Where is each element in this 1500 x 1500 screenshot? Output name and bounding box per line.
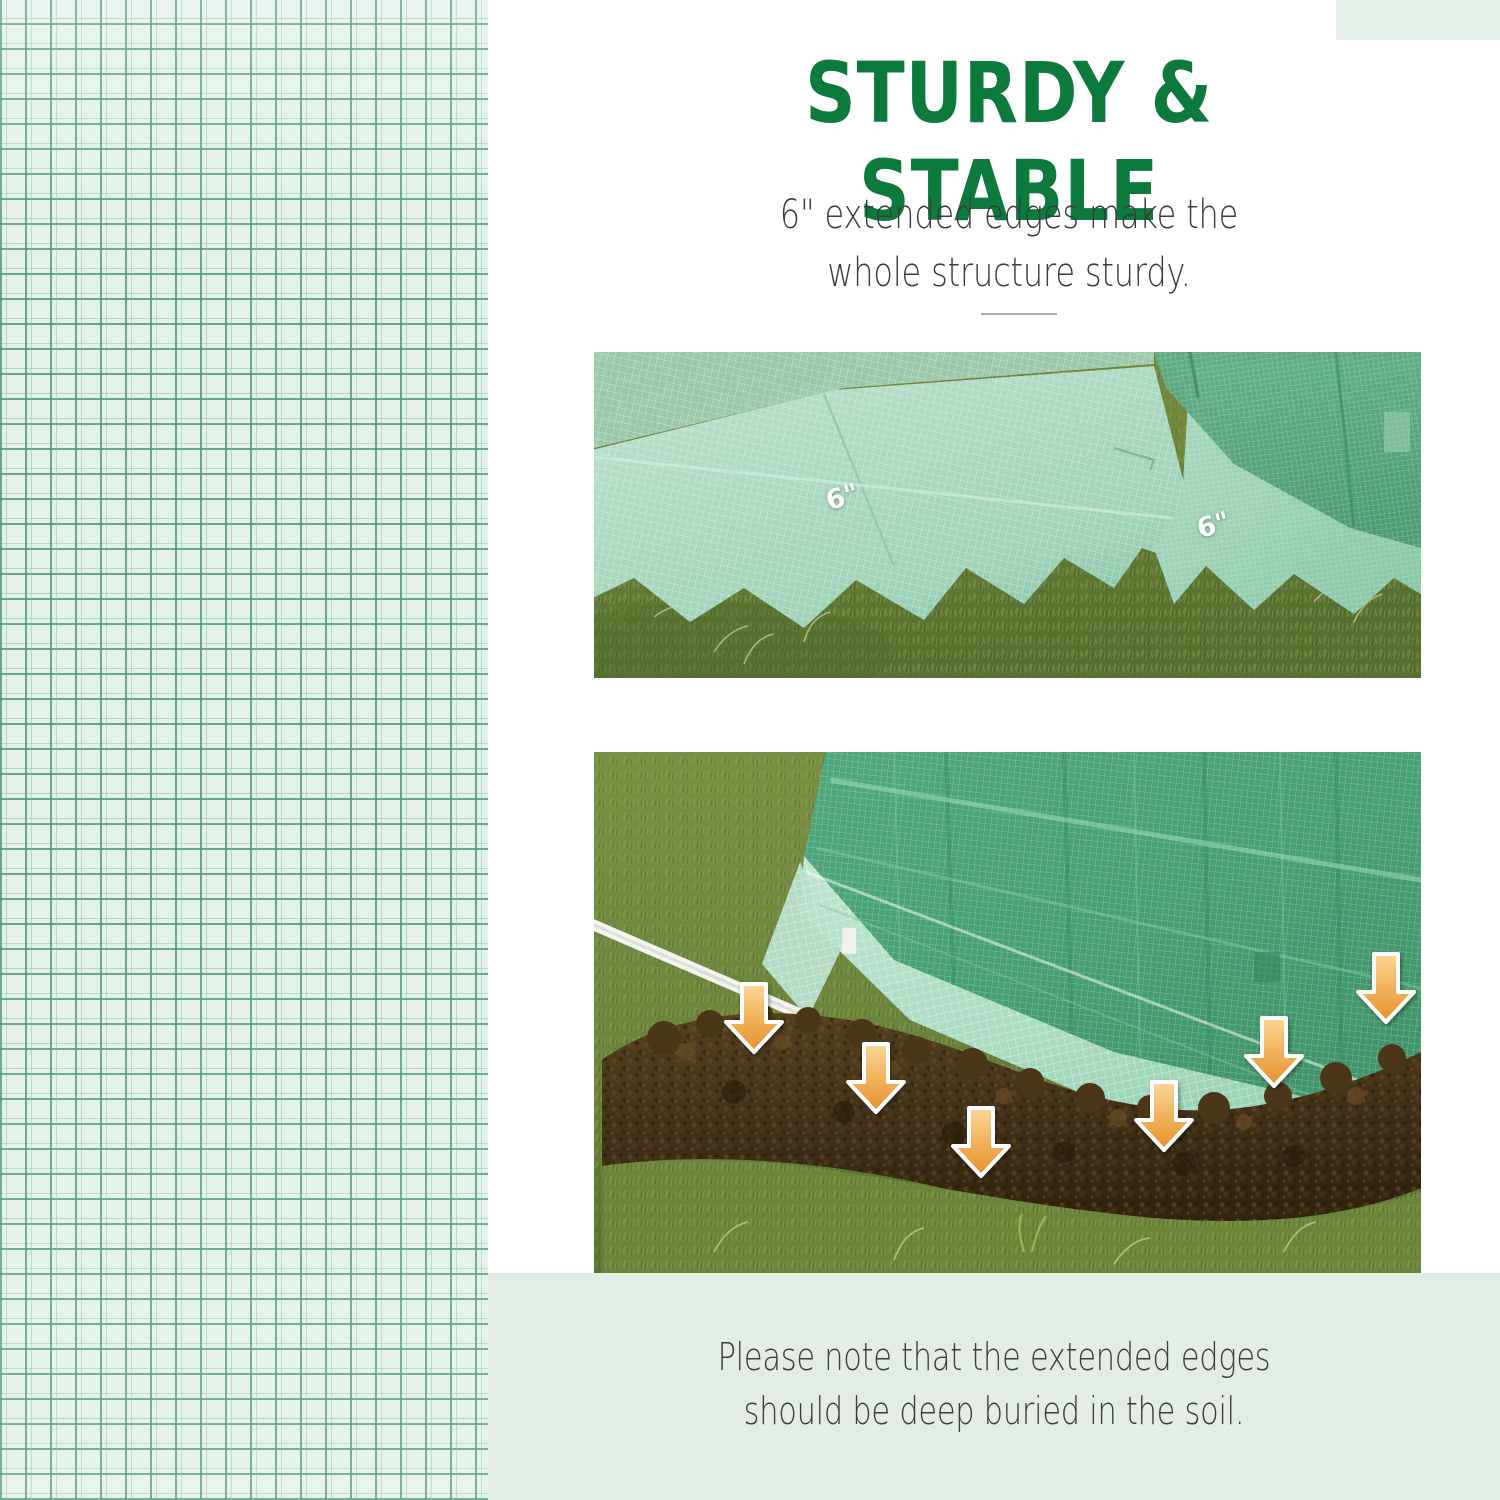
photo-extended-edges: 6" 6" <box>594 352 1421 678</box>
photo-buried-edges <box>594 752 1421 1273</box>
down-arrow-icon <box>1132 1078 1196 1154</box>
photo-extended-edges-art <box>594 352 1421 678</box>
graph-paper-wash <box>0 0 488 1500</box>
page-subtitle: 6" extended edges make the whole structu… <box>677 186 1341 302</box>
down-arrow-1 <box>722 980 786 1056</box>
down-arrow-icon <box>1242 1014 1306 1090</box>
marketing-page: STURDY & STABLE 6" extended edges make t… <box>0 0 1500 1500</box>
title-divider <box>981 313 1057 315</box>
corner-accent-block <box>1336 0 1500 40</box>
down-arrow-icon <box>722 980 786 1056</box>
down-arrow-icon <box>949 1104 1013 1180</box>
down-arrow-5 <box>1242 1014 1306 1090</box>
graph-paper-panel <box>0 0 488 1500</box>
down-arrow-icon <box>844 1040 908 1116</box>
down-arrow-4 <box>1132 1078 1196 1154</box>
caption-panel: Please note that the extended edges shou… <box>488 1273 1500 1500</box>
down-arrow-2 <box>844 1040 908 1116</box>
caption-text: Please note that the extended edges shou… <box>589 1331 1399 1439</box>
down-arrow-6 <box>1354 950 1418 1026</box>
down-arrow-3 <box>949 1104 1013 1180</box>
down-arrow-icon <box>1354 950 1418 1026</box>
photo-buried-edges-art <box>594 752 1421 1273</box>
